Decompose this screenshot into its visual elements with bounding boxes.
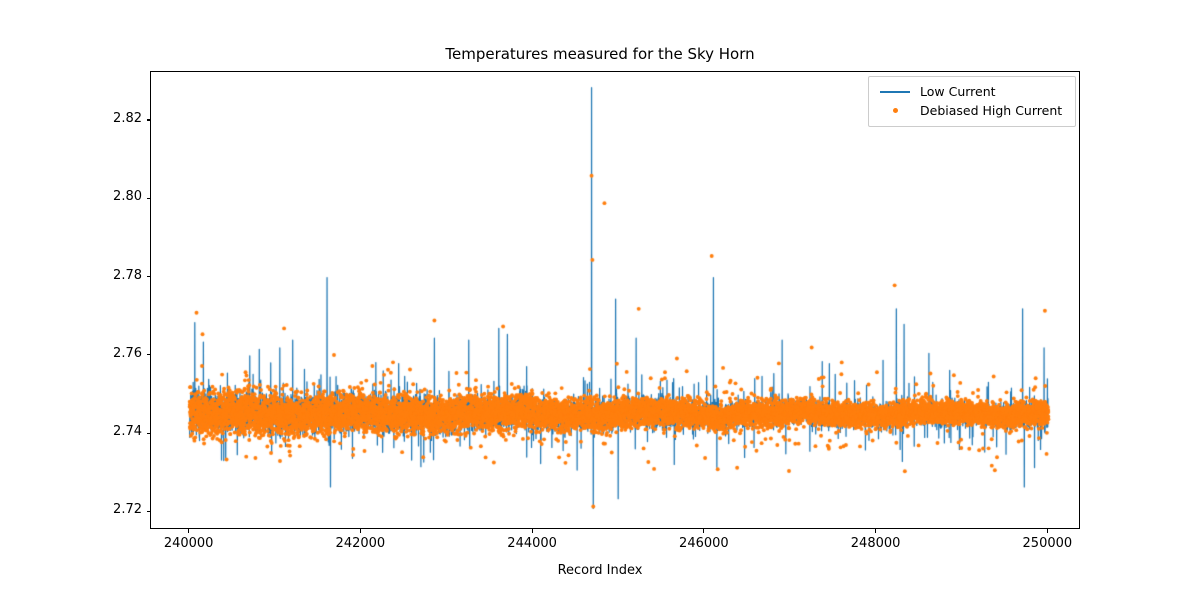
y-tick-mark — [147, 276, 151, 277]
x-tick-mark — [360, 529, 361, 533]
y-tick-mark — [147, 198, 151, 199]
plot-area — [150, 71, 1080, 529]
y-tick-label: 2.72 — [113, 502, 142, 517]
x-tick-mark — [1047, 529, 1048, 533]
x-tick-label: 240000 — [164, 536, 214, 551]
x-tick-label: 250000 — [1023, 536, 1073, 551]
x-tick-mark — [188, 529, 189, 533]
x-axis-label: Record Index — [0, 563, 1200, 578]
y-tick-label: 2.78 — [113, 268, 142, 283]
x-tick-mark — [703, 529, 704, 533]
x-tick-label: 248000 — [851, 536, 901, 551]
y-tick-mark — [147, 433, 151, 434]
x-tick-label: 244000 — [507, 536, 557, 551]
x-tick-label: 246000 — [679, 536, 729, 551]
legend-dot-icon — [877, 108, 913, 113]
chart-title: Temperatures measured for the Sky Horn — [0, 45, 1200, 63]
x-tick-label: 242000 — [336, 536, 386, 551]
figure-canvas: Temperatures measured for the Sky Horn T… — [0, 0, 1200, 600]
x-tick-mark — [875, 529, 876, 533]
legend-item-low-current[interactable]: Low Current — [877, 82, 1067, 101]
chart-legend: Low Current Debiased High Current — [868, 76, 1076, 127]
legend-line-icon — [877, 91, 913, 93]
y-tick-label: 2.74 — [113, 424, 142, 439]
y-tick-label: 2.80 — [113, 189, 142, 204]
y-tick-mark — [147, 354, 151, 355]
y-tick-mark — [147, 511, 151, 512]
legend-label: Debiased High Current — [920, 103, 1062, 118]
legend-label: Low Current — [920, 84, 996, 99]
y-tick-label: 2.82 — [113, 111, 142, 126]
chart-plot-canvas — [151, 72, 1080, 529]
x-tick-mark — [532, 529, 533, 533]
legend-item-debiased-high-current[interactable]: Debiased High Current — [877, 101, 1067, 120]
y-tick-label: 2.76 — [113, 346, 142, 361]
y-tick-mark — [147, 119, 151, 120]
